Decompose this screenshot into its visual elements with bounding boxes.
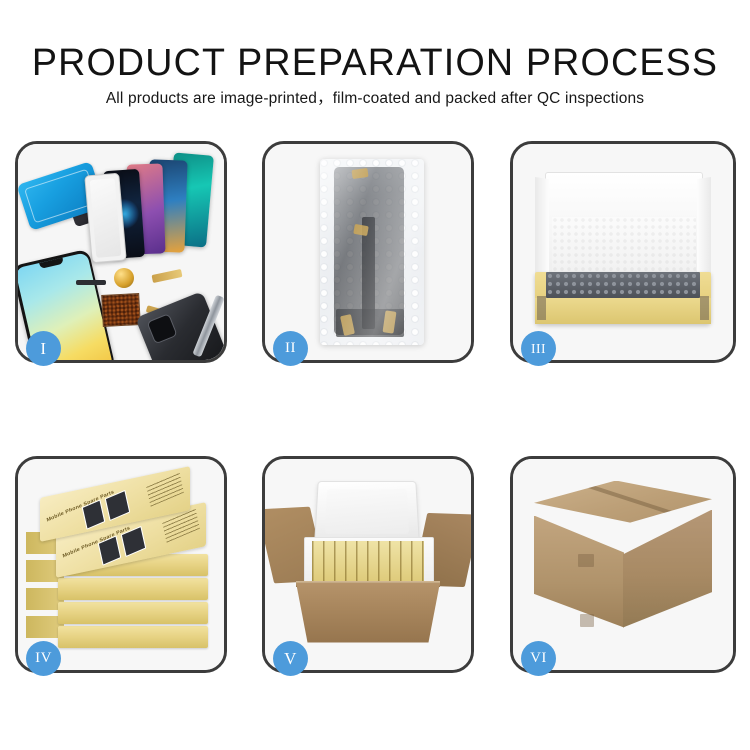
vibration-motor-part	[114, 268, 134, 288]
carton-right-face	[623, 510, 712, 628]
speaker-bar-part	[76, 280, 106, 285]
bubble-wrap-bag	[320, 159, 424, 345]
step-badge-6: VI	[521, 641, 556, 676]
carton-tab-upper	[578, 554, 594, 567]
product-preparation-infographic: PRODUCT PREPARATION PROCESS All products…	[0, 0, 750, 750]
sealed-shipping-carton	[528, 481, 718, 647]
step-badge-2: II	[273, 331, 308, 366]
foam-box-lid	[314, 481, 420, 543]
step-badge-4: IV	[26, 641, 61, 676]
gold-connector-2	[353, 224, 369, 236]
carton-left-face	[534, 516, 624, 628]
box-stack-item-6	[58, 626, 208, 648]
step-panel-2[interactable]: II	[262, 141, 474, 363]
step-panel-1[interactable]: I	[15, 141, 227, 363]
phone-fan-group	[88, 154, 224, 264]
lid-right-flap	[697, 177, 711, 277]
box-spec-lines-1	[146, 472, 184, 507]
step-3-image	[513, 144, 733, 360]
chip-array-part	[101, 293, 141, 327]
box-lid-upright	[545, 172, 703, 283]
flex-cable-part-1	[151, 269, 182, 283]
step-panel-6[interactable]: VI	[510, 456, 736, 673]
step-4-image: Mobile Phone Spare Parts Mobile Phone Sp…	[18, 459, 224, 670]
step-badge-5: V	[273, 641, 308, 676]
phone-glass-panel	[84, 173, 127, 264]
lid-left-flap	[535, 177, 549, 277]
step-panel-4[interactable]: Mobile Phone Spare Parts Mobile Phone Sp…	[15, 456, 227, 673]
process-steps-grid: I II	[0, 0, 750, 750]
step-badge-3: III	[521, 331, 556, 366]
box-corner-left	[537, 296, 546, 320]
step-badge-1: I	[26, 331, 61, 366]
step-2-image	[265, 144, 471, 360]
phone-parts-collage	[18, 144, 224, 360]
box-front-panel	[535, 298, 711, 324]
step-panel-5[interactable]: V	[262, 456, 474, 673]
carton-tab-lower	[580, 614, 594, 627]
carton-with-foam-box	[270, 479, 466, 647]
stacked-yellow-boxes: Mobile Phone Spare Parts Mobile Phone Sp…	[26, 476, 216, 654]
step-1-image	[18, 144, 224, 360]
gray-foam-insert	[546, 272, 700, 298]
step-5-image	[265, 459, 471, 670]
box-stack-item-4	[58, 578, 208, 600]
box-stack-item-5	[58, 602, 208, 624]
box-corner-right	[700, 296, 709, 320]
step-6-image	[513, 459, 733, 670]
open-yellow-box	[535, 172, 711, 330]
step-panel-3[interactable]: III	[510, 141, 736, 363]
packed-yellow-boxes	[312, 541, 424, 585]
carton-body	[296, 583, 440, 643]
